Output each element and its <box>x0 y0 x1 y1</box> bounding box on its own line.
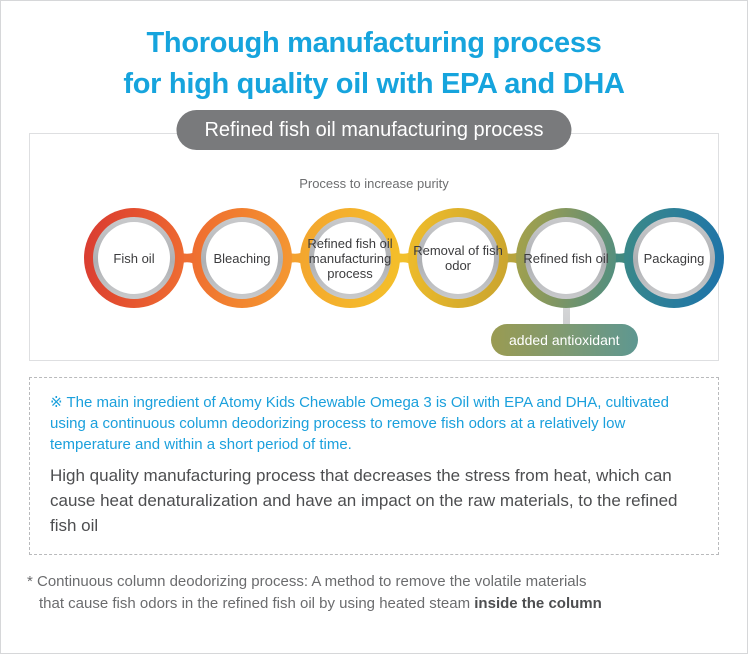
process-step-bleaching[interactable]: Bleaching <box>192 208 292 308</box>
process-panel: Refined fish oil manufacturing process P… <box>29 133 719 361</box>
infographic-page: Thorough manufacturing process for high … <box>0 0 748 654</box>
footnote: * Continuous column deodorizing process:… <box>27 571 721 615</box>
step-ring-inner-1 <box>98 222 170 294</box>
antioxidant-badge: added antioxidant <box>491 324 638 356</box>
process-step-refined-fish-oil[interactable]: Refined fish oil <box>516 208 616 308</box>
step-ring-inner-4 <box>422 222 494 294</box>
footnote-line-2: that cause fish odors in the refined fis… <box>27 593 721 615</box>
page-title-line-2: for high quality oil with EPA and DHA <box>1 64 747 105</box>
step-ring-inner-5 <box>530 222 602 294</box>
note-dark-text: High quality manufacturing process that … <box>50 463 698 538</box>
page-title-line-1: Thorough manufacturing process <box>1 23 747 64</box>
step-ring-inner-6 <box>638 222 710 294</box>
step-ring-inner-3 <box>314 222 386 294</box>
note-blue-text: ※ The main ingredient of Atomy Kids Chew… <box>50 392 698 455</box>
footnote-line-1: * Continuous column deodorizing process:… <box>27 571 721 593</box>
footnote-line-2-normal: that cause fish odors in the refined fis… <box>39 595 474 612</box>
page-title: Thorough manufacturing process for high … <box>1 1 747 105</box>
footnote-line-2-emphasis: inside the column <box>474 595 602 612</box>
note-box: ※ The main ingredient of Atomy Kids Chew… <box>29 377 719 555</box>
process-step-refined-fish-oil-manufacturing[interactable]: Refined fish oil manufacturing process <box>300 208 400 308</box>
process-banner: Refined fish oil manufacturing process <box>176 110 571 150</box>
process-chain: Fish oil Bleaching Refined fish oil manu… <box>30 208 718 318</box>
process-step-fish-oil[interactable]: Fish oil <box>84 208 184 308</box>
process-subcaption: Process to increase purity <box>30 176 718 191</box>
step-ring-inner-2 <box>206 222 278 294</box>
process-step-packaging[interactable]: Packaging <box>624 208 724 308</box>
process-step-removal-of-fish-odor[interactable]: Removal of fish odor <box>408 208 508 308</box>
